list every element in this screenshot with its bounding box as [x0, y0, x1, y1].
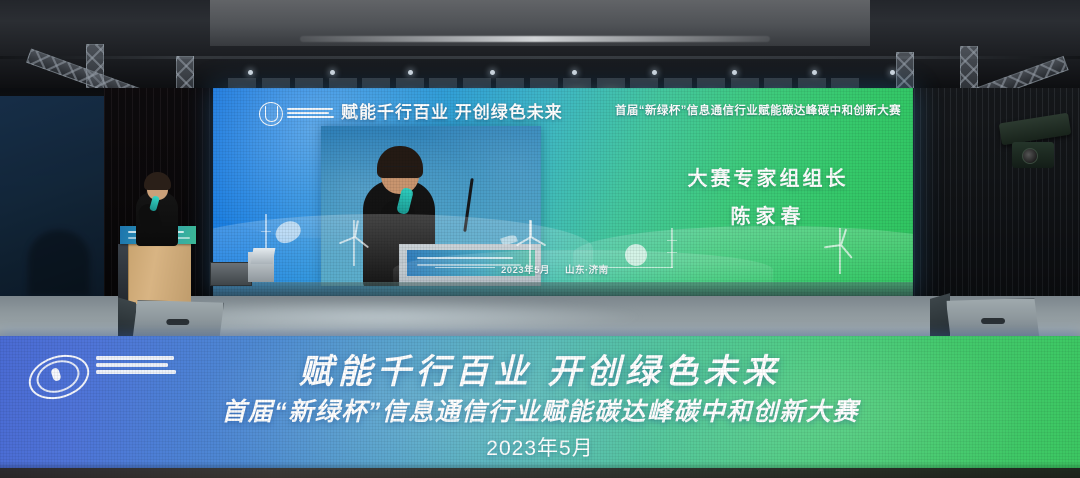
ceiling-beam — [0, 56, 1080, 59]
wind-turbine-icon-3 — [825, 228, 855, 274]
feed-speaker-glasses — [383, 166, 417, 174]
led-ground-strip — [213, 282, 913, 296]
ceiling-downlight — [890, 70, 895, 75]
led-speaker-role: 大赛专家组组长 — [633, 162, 903, 191]
led-header-title: 赋能千行百业 开创绿色未来 — [341, 98, 563, 123]
ceiling-downlight — [812, 70, 817, 75]
banner-pixel-grid — [0, 336, 1080, 478]
ceiling-downlight — [572, 70, 577, 75]
ceiling-light-strip — [300, 36, 770, 42]
camera-lens-icon — [1022, 148, 1038, 164]
ceiling-downlight — [732, 70, 737, 75]
monitor-grill-right — [981, 318, 1005, 324]
led-footer-location: 山东·济南 — [565, 262, 609, 276]
telecom-tower-icon-right — [671, 228, 673, 268]
led-footer-date: 2023年5月 — [501, 262, 550, 276]
wall-shadow — [28, 230, 90, 296]
led-speaker-name: 陈家春 — [633, 200, 903, 229]
led-header: 赋能千行百业 开创绿色未来 首届“新绿杯”信息通信行业赋能碳达峰碳中和创新大赛 — [213, 96, 913, 130]
ceiling-downlight — [248, 70, 253, 75]
event-emblem-logo-icon — [259, 102, 283, 126]
left-blue-wall-panel — [0, 96, 112, 296]
led-rule-left — [435, 267, 495, 269]
led-backdrop-screen: 赋能千行百业 开创绿色未来 首届“新绿杯”信息通信行业赋能碳达峰碳中和创新大赛 … — [213, 88, 913, 296]
event-logo-wordmark — [287, 105, 335, 121]
floor-equipment-box — [210, 262, 252, 286]
venue-floor-strip — [0, 468, 1080, 478]
speaking-podium — [128, 240, 191, 304]
front-stage-led-banner: 赋能千行百业 开创绿色未来 首届“新绿杯”信息通信行业赋能碳达峰碳中和创新大赛 … — [0, 336, 1080, 478]
conference-stage-screenshot: 赋能千行百业 开创绿色未来 首届“新绿杯”信息通信行业赋能碳达峰碳中和创新大赛 … — [0, 0, 1080, 478]
monitor-grill-left — [166, 319, 189, 324]
ceiling-downlight — [652, 70, 657, 75]
sun-icon — [625, 244, 647, 266]
led-header-subtitle: 首届“新绿杯”信息通信行业赋能碳达峰碳中和创新大赛 — [615, 102, 901, 118]
speaker-hair — [144, 172, 171, 190]
ceiling-downlight — [490, 70, 495, 75]
ceiling-downlight — [408, 70, 413, 75]
curtain-right-a — [908, 88, 972, 320]
ceiling-downlight — [330, 70, 335, 75]
laptop-icon — [251, 248, 276, 264]
wind-turbine-icon-1 — [339, 220, 369, 266]
